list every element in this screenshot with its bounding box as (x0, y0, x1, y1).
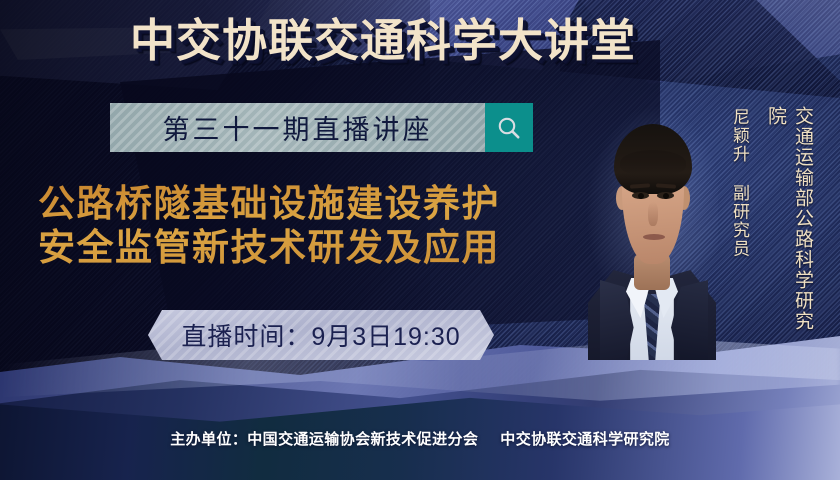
headline-line-1: 公路桥隧基础设施建设养护 (38, 182, 598, 226)
speaker-portrait (586, 88, 718, 360)
portrait-mouth (643, 234, 665, 240)
search-icon (496, 115, 522, 141)
live-stream-poster: 中交协联交通科学大讲堂 第三十一期直播讲座 公路桥隧基础设施建设养护 安全监管新… (0, 0, 840, 480)
portrait-hair-fringe (620, 150, 686, 176)
live-time-badge: 直播时间：9月3日19:30 (148, 310, 494, 360)
footer-co-organizer: 中交协联交通科学研究院 (500, 428, 669, 449)
episode-banner: 第三十一期直播讲座 (110, 103, 485, 152)
footer-organizer: 主办单位：中国交通运输协会新技术促进分会 (170, 428, 478, 449)
portrait-pupil-left (638, 193, 644, 199)
lecture-headline: 公路桥隧基础设施建设养护 安全监管新技术研发及应用 (38, 182, 598, 270)
live-time-label: 直播时间：9月3日19:30 (181, 317, 460, 353)
footer-bar: 主办单位：中国交通运输协会新技术促进分会 中交协联交通科学研究院 (0, 424, 840, 452)
portrait-pupil-right (663, 193, 669, 199)
search-icon-box[interactable] (485, 103, 533, 152)
page-title: 中交协联交通科学大讲堂 (130, 18, 710, 63)
speaker-name-title: 尼颖升 副研究员 (727, 108, 752, 260)
portrait-nose (648, 202, 658, 226)
speaker-organization: 交通运输部公路科学研究院 (762, 106, 816, 338)
episode-label: 第三十一期直播讲座 (163, 108, 433, 147)
headline-line-2: 安全监管新技术研发及应用 (38, 226, 598, 270)
